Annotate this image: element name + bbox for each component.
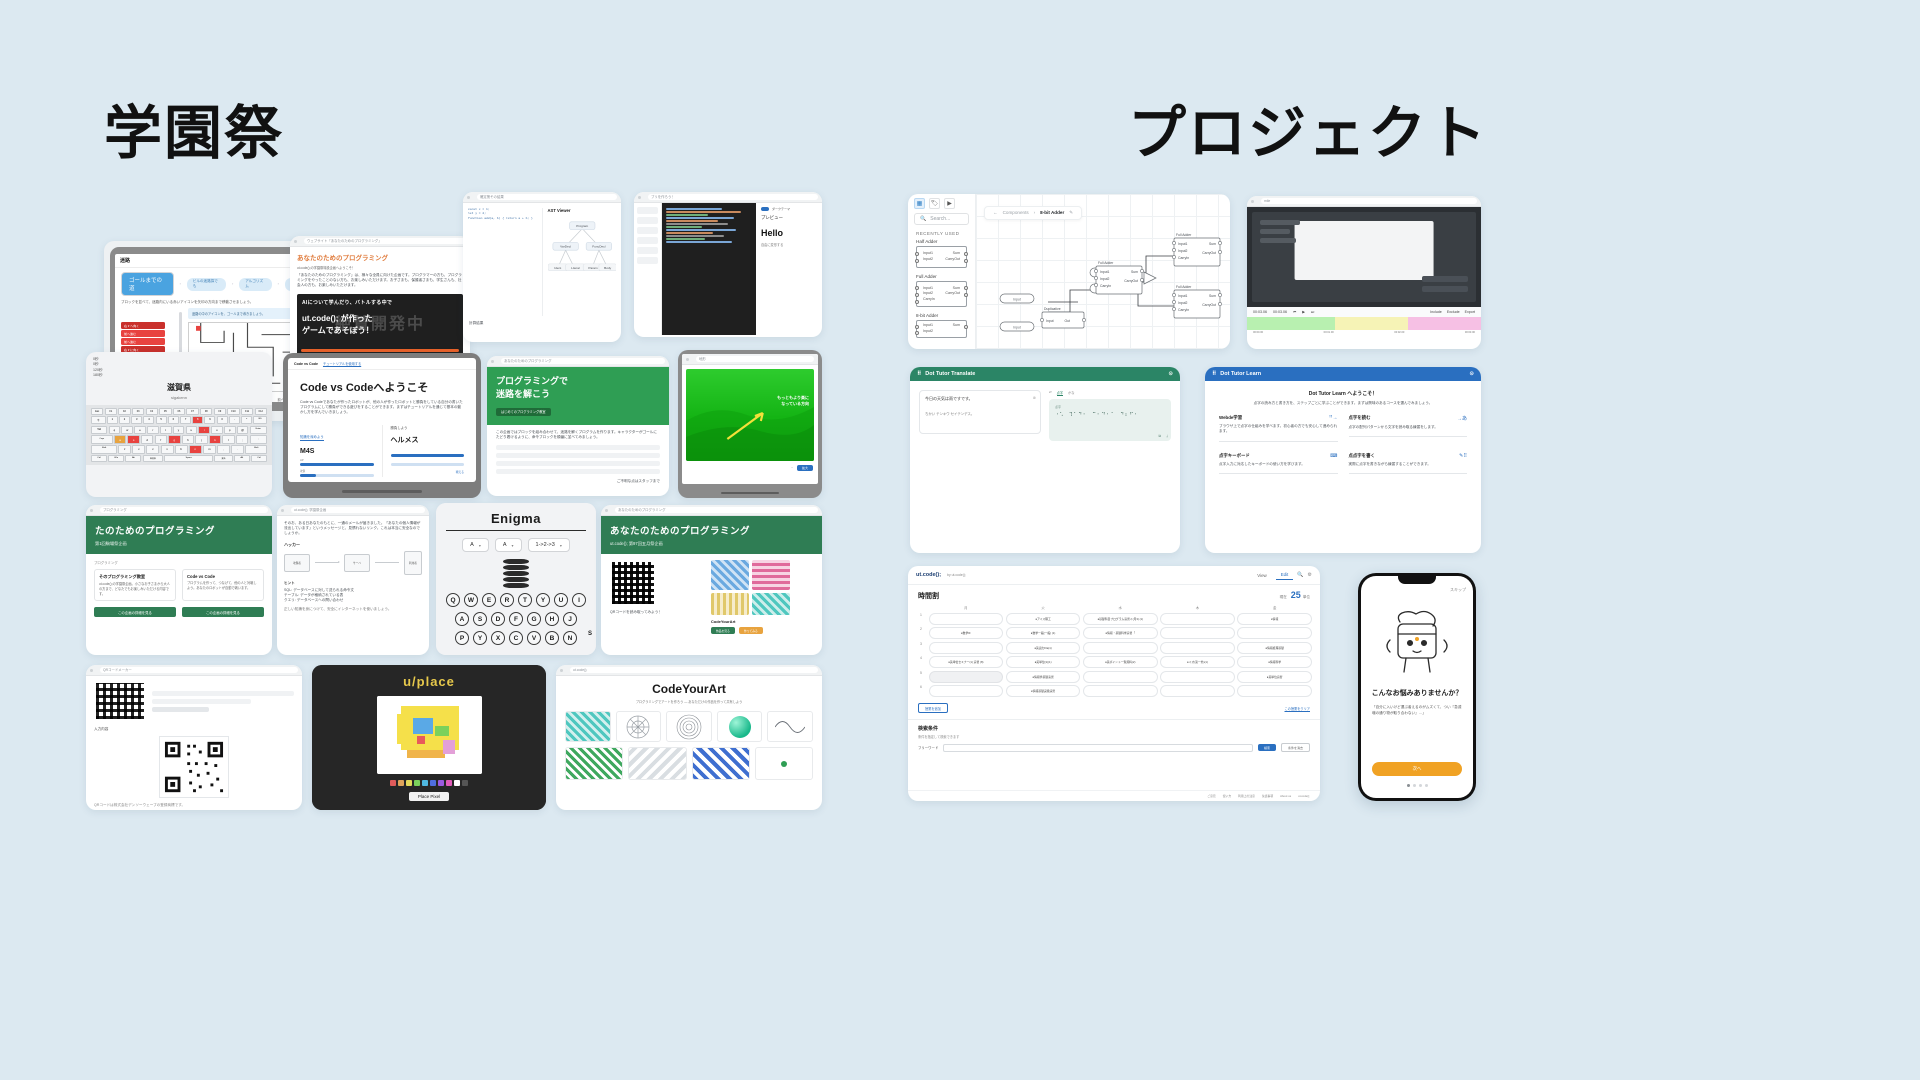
card-hacker[interactable]: ut.code(); 学園祭企画 そのお、ある日あなたのもとに、一通のメールが届… bbox=[277, 505, 429, 655]
card-terrain[interactable]: 地形 もっともより楽に なっている方向 − 拡大 bbox=[678, 350, 822, 498]
timetable-cell[interactable] bbox=[1083, 685, 1158, 697]
minicard-title: Code vs Code bbox=[187, 574, 259, 579]
exclude-button[interactable]: Exclude bbox=[1447, 310, 1460, 314]
green-section-label: プログラミング bbox=[94, 560, 264, 565]
theme-toggle[interactable] bbox=[761, 207, 769, 211]
swap-icon[interactable]: ⇄ bbox=[1049, 390, 1052, 396]
art-panel: CodeYourArt 作品を見る 作ってみる bbox=[711, 560, 813, 634]
tab-edit[interactable]: Edit bbox=[1276, 570, 1294, 580]
video-overlay-line1: AIについて学んだり、バトルする中で bbox=[302, 300, 458, 306]
palette-swatch[interactable] bbox=[422, 780, 428, 786]
timetable-cell[interactable]: ●情報 bbox=[1237, 613, 1312, 625]
enigma-select-2[interactable]: 1->2->3▾ bbox=[528, 538, 570, 552]
ast-panel-title: AST Viewer bbox=[548, 208, 617, 213]
browser-tab-title[interactable]: ブリを作ろう！ bbox=[648, 194, 818, 200]
cya-art-cell[interactable] bbox=[717, 711, 763, 742]
browser-tab-title[interactable]: ut.code(); 学園祭企画 bbox=[291, 507, 425, 513]
enigma-key[interactable]: X bbox=[491, 631, 505, 645]
banner-badge: はじめてのプログラミング教室 bbox=[496, 408, 551, 416]
enigma-key[interactable]: S bbox=[473, 612, 487, 626]
timetable-cell[interactable] bbox=[1160, 671, 1235, 683]
copy-icon[interactable]: ⧉ bbox=[1158, 434, 1161, 438]
timetable-header: ut.code(); by ut.code(); View Edit 🔍 ⚙ bbox=[908, 566, 1320, 585]
onboarding-dots[interactable] bbox=[1361, 784, 1473, 787]
timetable-cell[interactable]: ●情報学基礎演習 bbox=[1006, 671, 1081, 683]
preview-pane: ダークテーマ プレビュー Hello 自由に変形する bbox=[756, 203, 822, 335]
palette-swatch[interactable] bbox=[414, 780, 420, 786]
timetable-cell[interactable]: ●情報・基礎科学演習「 bbox=[1083, 627, 1158, 639]
timetable-cell[interactable]: ●イオ(第一外)(1) bbox=[1160, 656, 1235, 668]
enigma-rotor-selectors[interactable]: A▾ A▾ 1->2->3▾ bbox=[446, 538, 586, 552]
card-dot-tutor-translate[interactable]: ⠿ Dot Tutor Translate ⊙ 今日の天気は雨ですです。 ちかい… bbox=[910, 367, 1180, 553]
palette-swatch[interactable] bbox=[398, 780, 404, 786]
timetable-cell[interactable]: ●数学一般(一般) (1) bbox=[1006, 627, 1081, 639]
minicard-body: プログラムを作って、つなげて、他の人と対戦しよう。あなたのロボットが自動で戦いま… bbox=[187, 581, 259, 591]
window-dot bbox=[467, 196, 470, 199]
typing-times: 0秒 0秒 120秒 180秒 bbox=[93, 357, 265, 379]
window-dot bbox=[491, 360, 494, 363]
onboarding-illustration bbox=[1361, 606, 1473, 678]
timetable-cell[interactable] bbox=[1083, 671, 1158, 683]
timetable-cell[interactable]: ●基礎科目プログラム演習イ(月3) (1) bbox=[1083, 613, 1158, 625]
maze-block[interactable]: 右 ▾ へ向く bbox=[121, 322, 165, 329]
enigma-title: Enigma bbox=[446, 511, 586, 526]
window-dot bbox=[605, 509, 608, 512]
timetable-cell[interactable] bbox=[1160, 642, 1235, 654]
qr-large bbox=[159, 736, 229, 798]
palette-swatch[interactable] bbox=[390, 780, 396, 786]
footer-link[interactable]: ut.code(); bbox=[1298, 794, 1310, 798]
gear-icon[interactable]: ⚙ bbox=[1308, 572, 1312, 578]
tag-icon[interactable]: 🏷 bbox=[929, 198, 940, 209]
skip-back-icon[interactable]: ⏮ bbox=[1293, 310, 1296, 314]
component-name: Half Adder bbox=[916, 239, 967, 244]
green-sub: 第1回駒場祭企画 bbox=[95, 541, 263, 547]
cya-art-cell[interactable] bbox=[565, 711, 611, 742]
banner-line2: 迷路を解こう bbox=[496, 387, 660, 400]
dot-indicator[interactable] bbox=[1419, 784, 1422, 787]
portfolio-page: 学園祭 プロジェクト 迷路 × ゴールまでの道 › ビルの迷路探でも › アルゴ… bbox=[0, 0, 1920, 1080]
cvc-left-label[interactable]: 知識を深めよう bbox=[300, 434, 324, 441]
chevron-down-icon: ▾ bbox=[560, 543, 562, 548]
svg-text:FuncDecl: FuncDecl bbox=[592, 245, 606, 249]
enigma-key[interactable]: Q bbox=[446, 593, 460, 607]
card-code-vs-code[interactable]: Code vs Code チュートリアルを使用する Code vs Codeへよ… bbox=[283, 353, 481, 498]
maze-instruction: ブロックを並べて、迷路内にいる赤いアイコンを矢印の方向まで移動させましょう。 bbox=[115, 300, 313, 308]
minicard-body: ut.code();の学園祭企画。小さなお子さまから大人の方まで、どなたでもお楽… bbox=[99, 582, 171, 596]
cya-art-cell[interactable] bbox=[565, 747, 623, 780]
filter-clear-button[interactable]: 条件を消去 bbox=[1281, 743, 1310, 752]
browser-tab-title[interactable]: ut.code(); bbox=[570, 667, 818, 673]
timetable-cell[interactable] bbox=[1237, 685, 1312, 697]
credit-label: 現在 bbox=[1280, 595, 1287, 600]
footer-link[interactable]: 使い方 bbox=[1223, 794, 1231, 798]
palette-swatch[interactable] bbox=[454, 780, 460, 786]
maze-green-banner: プログラミングで 迷路を解こう はじめてのプログラミング教室 bbox=[487, 367, 669, 425]
enigma-key[interactable]: E bbox=[482, 593, 496, 607]
card-codeyourart[interactable]: ut.code(); CodeYourArt プログラミングでアートを作ろう —… bbox=[556, 665, 822, 810]
timecode-current: 00:03.06 bbox=[1253, 310, 1267, 314]
period-label: 4 bbox=[916, 656, 926, 668]
website-body: 「あなたのためのプログラミング」は、様々な全員に向けた企画です。プログラマーの方… bbox=[297, 273, 463, 289]
timetable-cell[interactable] bbox=[1160, 627, 1235, 639]
section-title-gakuensai: 学園祭 bbox=[104, 86, 284, 170]
learn-card-3[interactable]: 点点字を書く ✎⠿ 実際に点字を書きながら練習することができます。 bbox=[1349, 453, 1468, 474]
green-minicard[interactable]: Code vs Code プログラムを作って、つなげて、他の人と対戦しよう。あな… bbox=[182, 569, 264, 601]
browser-tab-title[interactable]: プログラミング bbox=[100, 507, 268, 513]
card-qr-art[interactable]: あなたのためのプログラミング あなたのためのプログラミング ut.code();… bbox=[601, 505, 822, 655]
svg-text:Ident: Ident bbox=[554, 266, 561, 270]
maze-green-footer: ご不明な点はスタッフまで bbox=[496, 479, 660, 484]
timetable-cell[interactable]: ●情報科学 bbox=[1237, 656, 1312, 668]
skip-button[interactable]: スキップ bbox=[1450, 587, 1466, 593]
timetable-cell[interactable] bbox=[1160, 613, 1235, 625]
clear-link[interactable]: この授業をクリア bbox=[1285, 706, 1311, 711]
component-8bit-adder[interactable]: 8-bit Adder Input1Sum Input2 bbox=[916, 313, 967, 338]
footer-link[interactable]: ご意見 bbox=[1207, 794, 1215, 798]
timetable-cell[interactable]: ●英単位セミナー(1) 演習 (8) bbox=[929, 656, 1004, 668]
browser-chrome: QRコードメーカー bbox=[86, 665, 302, 676]
circuit-canvas[interactable]: ← Components › 8-bit Adder ✎ bbox=[976, 194, 1230, 349]
card-typing-game[interactable]: 0秒 0秒 120秒 180秒 滋賀県 sigakenn Esc F1 F2 F… bbox=[86, 352, 272, 497]
learn-card-1[interactable]: 点字を読む →あ 点字の配列パターンから文字を読み取る練習をします。 bbox=[1349, 415, 1468, 441]
website-video-thumbnail[interactable]: AIについて学んだり、バトルする中で ut.code(); が作った ゲームであ… bbox=[297, 294, 463, 356]
phone-notch bbox=[1398, 576, 1436, 584]
card-timetable[interactable]: ut.code(); by ut.code(); View Edit 🔍 ⚙ 時… bbox=[908, 566, 1320, 801]
timetable-cell[interactable] bbox=[929, 685, 1004, 697]
include-button[interactable]: Include bbox=[1430, 310, 1442, 314]
enigma-key[interactable]: P bbox=[455, 631, 469, 645]
enigma-key[interactable]: F bbox=[509, 612, 523, 626]
palette-swatch[interactable] bbox=[430, 780, 436, 786]
timeline-ruler: 00:00.0000:01.0000:02.0000:03.00 bbox=[1247, 330, 1481, 335]
day-header: 水 bbox=[1083, 605, 1158, 610]
green-cta-button[interactable]: この企画の詳細を見る bbox=[94, 607, 176, 617]
video-progress-bar[interactable] bbox=[301, 349, 459, 352]
terrain-canvas[interactable]: もっともより楽に なっている方向 bbox=[686, 369, 814, 461]
cya-art-cell[interactable] bbox=[692, 747, 750, 780]
window-dot bbox=[281, 509, 284, 512]
component-half-adder[interactable]: Half Adder Input1Sum Input2CarryOut bbox=[916, 239, 967, 268]
learn-card-0[interactable]: Webde学習 ⠛→ ブラウザ上で点字の仕組みを学べます。初心者の方でも安心して… bbox=[1219, 415, 1338, 441]
timetable-cell[interactable]: ●数学IF bbox=[929, 627, 1004, 639]
cvc-brand: Code vs Code bbox=[294, 362, 318, 366]
qr-caption: QRコードを読み取ってみよう！ bbox=[610, 610, 703, 615]
keyboard-icon: ⌨ bbox=[1330, 453, 1337, 459]
timeline-track[interactable] bbox=[1335, 317, 1408, 330]
browser-tab-title[interactable]: 地形 bbox=[696, 356, 814, 362]
next-button[interactable]: 次へ bbox=[1372, 762, 1462, 776]
timetable-cell[interactable]: ●英単位演習 bbox=[1237, 671, 1312, 683]
play-icon[interactable]: ▶ bbox=[944, 198, 955, 209]
timetable-cell[interactable]: ●情報基礎実験演習 bbox=[1006, 685, 1081, 697]
timeline-track[interactable] bbox=[1408, 317, 1481, 330]
enigma-key[interactable]: G bbox=[527, 612, 541, 626]
qr-preview bbox=[94, 681, 146, 721]
enigma-key[interactable]: R bbox=[500, 593, 514, 607]
timetable-cell[interactable]: ●アイス理工 bbox=[1006, 613, 1081, 625]
enigma-key[interactable]: Y bbox=[473, 631, 487, 645]
timeline-track[interactable] bbox=[1247, 317, 1335, 330]
card-uplace[interactable]: u/place bbox=[312, 665, 546, 810]
cvc-bot-left: M4S bbox=[300, 448, 374, 455]
cvc-stat-label: HP bbox=[300, 459, 374, 462]
editor-footer: 計算結果 bbox=[463, 321, 621, 326]
translate-input[interactable]: 今日の天気は雨ですです。 ちかい テンキウ セイテンデス。 ⊗ bbox=[919, 390, 1041, 434]
add-class-button[interactable]: 授業を追加 bbox=[918, 703, 948, 713]
play-icon[interactable]: ▶ bbox=[1302, 310, 1305, 314]
cvc-right-label[interactable]: 勝負しよう bbox=[391, 425, 465, 430]
enigma-key[interactable]: B bbox=[545, 631, 559, 645]
filter-input[interactable] bbox=[943, 744, 1253, 752]
timetable-grid[interactable]: 月 火 水 木 金 1 ●アイス理工 ●基礎科目プログラム演習イ(月3) (1)… bbox=[908, 601, 1320, 701]
uplace-palette[interactable] bbox=[390, 780, 468, 786]
website-heading: あなたのためのプログラミング bbox=[297, 252, 463, 262]
grid-icon[interactable]: ▦ bbox=[914, 198, 925, 209]
dot-translate-title: Dot Tutor Translate bbox=[925, 371, 975, 377]
card-green-programming[interactable]: プログラミング たのためのプログラミング 第1回駒場祭企画 プログラミング その… bbox=[86, 505, 272, 655]
sidebar-panel[interactable] bbox=[634, 203, 662, 335]
cvc-start-button[interactable]: 戦える bbox=[391, 470, 465, 474]
card-qr-maker[interactable]: QRコードメーカー 入力内容 bbox=[86, 665, 302, 810]
enigma-key[interactable]: W bbox=[464, 593, 478, 607]
svg-text:Input1: Input1 bbox=[1100, 270, 1110, 274]
svg-text:VarDecl: VarDecl bbox=[560, 245, 571, 249]
footer-link[interactable]: 免責事項 bbox=[1262, 794, 1273, 798]
cvc-body: Code vs Codeであなたが作ったロボットが、他の人が作ったロボットと勝負… bbox=[300, 400, 464, 416]
export-button[interactable]: Export bbox=[1465, 310, 1475, 314]
monitor-stand bbox=[342, 490, 422, 493]
browser-chrome: ウェブサイト「あなたのためのプログラミング」 bbox=[290, 236, 470, 247]
tab-view[interactable]: View bbox=[1252, 571, 1271, 580]
cya-art-cell[interactable] bbox=[616, 711, 662, 742]
video-editor-title[interactable]: mile bbox=[1261, 198, 1477, 204]
enigma-key-row-1[interactable]: A S D F G H J bbox=[446, 612, 586, 626]
browser-tab-title[interactable]: ウェブサイト「あなたのためのプログラミング」 bbox=[304, 238, 466, 244]
enigma-key[interactable]: Y bbox=[536, 593, 550, 607]
timetable-cell[interactable]: ●英ポイント一覧資料(2) bbox=[1083, 656, 1158, 668]
svg-text:Sum: Sum bbox=[1209, 294, 1216, 298]
browser-tab-title[interactable]: 確定策その結果 bbox=[477, 194, 617, 200]
filter-sub: 条件を指定して検索できます bbox=[918, 734, 1310, 739]
clear-icon[interactable]: ⊗ bbox=[1033, 395, 1036, 400]
list-item[interactable] bbox=[496, 469, 660, 474]
maze-step-2[interactable]: アルゴリズム bbox=[239, 278, 271, 291]
timetable-cell[interactable] bbox=[929, 613, 1004, 625]
footer-link[interactable]: 利用上の注意 bbox=[1238, 794, 1255, 798]
browser-chrome: あなたのためのプログラミング bbox=[601, 505, 822, 516]
place-pixel-button[interactable]: Place Pixel bbox=[409, 792, 449, 801]
video-editor-stage[interactable] bbox=[1247, 207, 1481, 307]
braille-icon: ⠿ bbox=[917, 371, 921, 377]
maze-breadcrumb: ゴールまでの道 › ビルの迷路探でも › アルゴリズム › ヒント bbox=[115, 268, 313, 300]
timetable-cell[interactable] bbox=[929, 642, 1004, 654]
website-subheading: ut.code();の学園祭特設企画へようこそ！ bbox=[297, 265, 463, 270]
day-header: 火 bbox=[1006, 605, 1081, 610]
browser-tab-title[interactable]: あなたのためのプログラミング bbox=[615, 507, 818, 513]
card-html-preview[interactable]: ブリを作ろう！ bbox=[634, 192, 822, 337]
dot-learn-title: Dot Tutor Learn bbox=[1220, 371, 1261, 377]
svg-text:CarryIn: CarryIn bbox=[1178, 256, 1189, 260]
cvc-nav[interactable]: チュートリアルを使用する bbox=[323, 361, 361, 366]
search-icon: 🔍 bbox=[920, 216, 926, 222]
green-heading: たのためのプログラミング bbox=[95, 523, 263, 537]
enigma-key[interactable]: N bbox=[563, 631, 577, 645]
hacker-label: ハッカー bbox=[284, 542, 422, 548]
cya-art-cell[interactable] bbox=[628, 747, 686, 780]
browser-chrome: ut.code(); 学園祭企画 bbox=[277, 505, 429, 516]
enigma-key[interactable]: T bbox=[518, 593, 532, 607]
uplace-canvas[interactable] bbox=[377, 696, 482, 774]
footer-link[interactable]: About us bbox=[1280, 794, 1291, 798]
filter-search-button[interactable]: 検索 bbox=[1258, 744, 1276, 751]
qr-input-label: 入力内容 bbox=[94, 727, 294, 732]
timetable-cell[interactable] bbox=[1083, 642, 1158, 654]
code-pane[interactable]: const x = 1; let y = 2; function add(a, … bbox=[468, 208, 537, 316]
enigma-key[interactable]: I bbox=[572, 593, 586, 607]
svg-text:CarryOut: CarryOut bbox=[1202, 303, 1216, 307]
maze-green-body: この企画ではブロックを組み合わせて、迷路を解くプログラムを作ります。キャラクター… bbox=[496, 430, 660, 440]
svg-text:CarryIn: CarryIn bbox=[1100, 284, 1111, 288]
cya-gallery-row1[interactable] bbox=[556, 704, 822, 742]
qr-panel: QRコードを読み取ってみよう！ bbox=[610, 560, 703, 634]
palette-swatch[interactable] bbox=[406, 780, 412, 786]
list-item[interactable] bbox=[496, 453, 660, 458]
cya-title: CodeYourArt bbox=[556, 682, 822, 696]
card-website-programming[interactable]: ウェブサイト「あなたのためのプログラミング」 あなたのためのプログラミング ut… bbox=[290, 236, 470, 371]
video-editor-controls[interactable]: 00:03.06 00:03.06 ⏮ ▶ ⏭ Include Exclude … bbox=[1247, 307, 1481, 317]
cya-art-cell[interactable] bbox=[767, 711, 813, 742]
card-enigma[interactable]: Enigma A▾ A▾ 1->2->3▾ Q bbox=[436, 503, 596, 655]
palette-swatch[interactable] bbox=[462, 780, 468, 786]
enigma-key[interactable]: U bbox=[554, 593, 568, 607]
maze-step-0[interactable]: ゴールまでの道 bbox=[121, 272, 174, 296]
timetable-cell[interactable] bbox=[1237, 627, 1312, 639]
timetable-cell[interactable]: ●情報処理基礎 bbox=[1237, 642, 1312, 654]
timetable-heading: 時間割 bbox=[918, 591, 939, 601]
dot-indicator[interactable] bbox=[1413, 784, 1416, 787]
card-video-editor[interactable]: mile 00:03.06 00:03.06 ⏮ ▶ ⏭ Include Exc… bbox=[1247, 196, 1481, 349]
timetable-brand: ut.code(); bbox=[916, 572, 941, 578]
green-minicard[interactable]: そのプログラミング教室 ut.code();の学園祭企画。小さなお子さまから大人… bbox=[94, 569, 176, 601]
svg-text:Input2: Input2 bbox=[1100, 277, 1110, 281]
onboarding-body: 「自分に入いけど選ぶ者えるのがムズくて、つい『急遽増の通り物が取り合わない』…」 bbox=[1361, 705, 1473, 717]
enigma-key[interactable]: H bbox=[545, 612, 559, 626]
search-icon[interactable]: 🔍 bbox=[1297, 572, 1303, 578]
window-dot bbox=[686, 358, 689, 361]
timetable-cell[interactable] bbox=[1160, 685, 1235, 697]
browser-tab-title[interactable]: あなたのためのプログラミング bbox=[501, 358, 665, 364]
circuit-sidebar[interactable]: ▦ 🏷 ▶ 🔍 Search... RECENTLY USED Half Add… bbox=[908, 194, 976, 349]
list-item[interactable] bbox=[496, 461, 660, 466]
browser-chrome: あなたのためのプログラミング bbox=[487, 356, 669, 367]
phone-screen[interactable]: スキップ こんなお悩みあ bbox=[1361, 576, 1473, 798]
enigma-select-1[interactable]: A▾ bbox=[495, 538, 522, 552]
window-dot bbox=[90, 509, 93, 512]
video-watermark: 絶賛開発中 bbox=[297, 310, 463, 334]
art-button[interactable]: 作品を見る bbox=[711, 627, 735, 634]
diagram-node: 利用者 bbox=[404, 551, 422, 575]
dot-indicator[interactable] bbox=[1425, 784, 1428, 787]
svg-text:Sum: Sum bbox=[1209, 242, 1216, 246]
green-cta-button[interactable]: この企画の詳細を見る bbox=[182, 607, 264, 617]
dot-indicator[interactable] bbox=[1407, 784, 1410, 787]
credit-value: 25 bbox=[1291, 590, 1301, 600]
terrain-zoom-button[interactable]: 拡大 bbox=[797, 465, 813, 471]
hacker-footer: 正しい知識を身につけて、安全にインターネットを使いましょう。 bbox=[284, 607, 422, 612]
maze-step-1[interactable]: ビルの迷路探でも bbox=[187, 278, 226, 291]
timetable-cell[interactable] bbox=[929, 671, 1004, 683]
enigma-key-row-0[interactable]: Q W E R T Y U I bbox=[446, 593, 586, 607]
cya-art-cell[interactable] bbox=[666, 711, 712, 742]
svg-text:Input1: Input1 bbox=[1178, 294, 1188, 298]
chevron-down-icon: ▾ bbox=[479, 543, 481, 548]
timetable-footer[interactable]: ご意見 使い方 利用上の注意 免責事項 About us ut.code(); bbox=[908, 790, 1320, 801]
card-circuit-simulator[interactable]: ▦ 🏷 ▶ 🔍 Search... RECENTLY USED Half Add… bbox=[908, 194, 1230, 349]
card-dot-tutor-learn[interactable]: ⠿ Dot Tutor Learn ⊙ Dot Tutor Learn へようこ… bbox=[1205, 367, 1481, 553]
timetable-cell[interactable]: ●英語力IIIa(1) bbox=[1006, 642, 1081, 654]
enigma-key[interactable]: D bbox=[491, 612, 505, 626]
learn-card-2[interactable]: 点字キーボード ⌨ 点字入力に対応したキーボードの使い方を学びます。 bbox=[1219, 453, 1338, 474]
preview-heading: Hello bbox=[761, 228, 817, 238]
day-header: 月 bbox=[929, 605, 1004, 610]
palette-swatch[interactable] bbox=[438, 780, 444, 786]
card-maze-green[interactable]: あなたのためのプログラミング プログラミングで 迷路を解こう はじめてのプログラ… bbox=[487, 356, 669, 496]
enigma-key[interactable]: A bbox=[455, 612, 469, 626]
search-input[interactable]: 🔍 Search... bbox=[914, 213, 969, 225]
day-header: 金 bbox=[1237, 605, 1312, 610]
circuit-toolbar[interactable]: ▦ 🏷 ▶ bbox=[908, 194, 975, 213]
svg-text:Full Adder: Full Adder bbox=[1176, 233, 1192, 237]
enigma-key-row-2[interactable]: P Y X C V B N bbox=[446, 631, 586, 645]
maze-block[interactable]: 前へ進む bbox=[121, 330, 165, 337]
svg-text:CarryIn: CarryIn bbox=[1178, 308, 1189, 312]
art-button[interactable]: 作ってみる bbox=[739, 627, 763, 634]
browser-tab-title[interactable]: QRコードメーカー bbox=[100, 667, 298, 673]
virtual-keyboard[interactable]: Esc F1 F2 F3 F4 F5 F6 F7 F8 F9 F10 F11 F… bbox=[86, 405, 272, 466]
list-item[interactable] bbox=[496, 445, 660, 450]
github-icon[interactable]: ⊙ bbox=[1469, 371, 1474, 377]
cya-gallery-row2[interactable] bbox=[556, 742, 822, 785]
maze-block[interactable]: 前へ進む bbox=[121, 338, 165, 345]
card-phone-onboarding[interactable]: スキップ こんなお悩みあ bbox=[1358, 573, 1476, 801]
translate-output-text: ⠐⠡⠀⠹⠁⠙⠂⠀⠉⠂⠙⠂⠁⠀⠙⠆⠋⠂ bbox=[1055, 412, 1165, 418]
download-icon[interactable]: ⤓ bbox=[1166, 434, 1168, 438]
github-icon[interactable]: ⊙ bbox=[1168, 371, 1173, 377]
hacker-body: そのお、ある日あなたのもとに、一通のメールが届きました。「あなたの個人情報が流出… bbox=[284, 521, 422, 537]
ast-pane: AST Viewer Program VarDecl FuncDecl Iden… bbox=[542, 208, 617, 316]
terrain-overlay: もっともより楽に なっている方向 bbox=[777, 395, 809, 406]
code-editor[interactable] bbox=[662, 203, 756, 335]
browser-chrome: mile bbox=[1247, 196, 1481, 207]
skip-forward-icon[interactable]: ⏭ bbox=[1311, 310, 1314, 314]
video-timeline[interactable] bbox=[1247, 317, 1481, 330]
card-ast-viewer[interactable]: 確定策その結果 const x = 1; let y = 2; function… bbox=[463, 192, 621, 342]
enigma-key[interactable]: V bbox=[527, 631, 541, 645]
enigma-key[interactable]: J bbox=[563, 612, 577, 626]
preview-sub: 自由に変形する bbox=[761, 242, 817, 247]
qr-heading: あなたのためのプログラミング bbox=[610, 523, 813, 537]
period-label: 3 bbox=[916, 642, 926, 654]
enigma-select-0[interactable]: A▾ bbox=[462, 538, 489, 552]
enigma-key[interactable]: C bbox=[509, 631, 523, 645]
palette-swatch[interactable] bbox=[446, 780, 452, 786]
cya-art-cell[interactable] bbox=[755, 747, 813, 780]
onboarding-heading: こんなお悩みありませんか？ bbox=[1361, 688, 1473, 698]
monitor-stand bbox=[721, 492, 779, 495]
component-full-adder[interactable]: Full Adder Input1Sum Input2CarryOut Carr… bbox=[916, 274, 967, 307]
timetable-cell[interactable]: ●英単位(1)(1) bbox=[1006, 656, 1081, 668]
